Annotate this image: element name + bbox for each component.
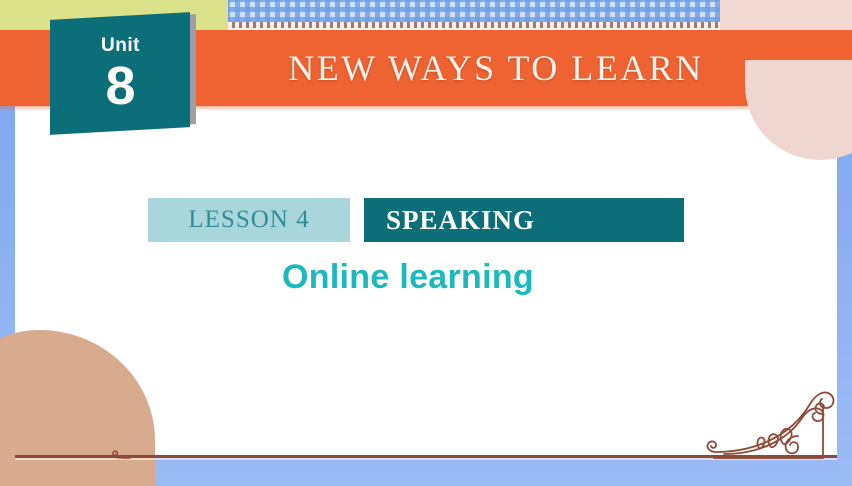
skill-label-chip: SPEAKING xyxy=(364,198,684,242)
presentation-slide: NEW WAYS TO LEARN Unit 8 LESSON 4 SPEAKI… xyxy=(0,0,852,486)
unit-badge: Unit 8 xyxy=(50,12,190,135)
corner-flourish-icon xyxy=(690,380,840,460)
lesson-label-chip: LESSON 4 xyxy=(148,198,350,242)
unit-number: 8 xyxy=(101,59,140,113)
left-spiral-icon xyxy=(110,446,132,462)
unit-label: Unit xyxy=(101,35,140,57)
lesson-subtitle: Online learning xyxy=(148,258,668,297)
lesson-header-row: LESSON 4 SPEAKING xyxy=(148,198,684,242)
